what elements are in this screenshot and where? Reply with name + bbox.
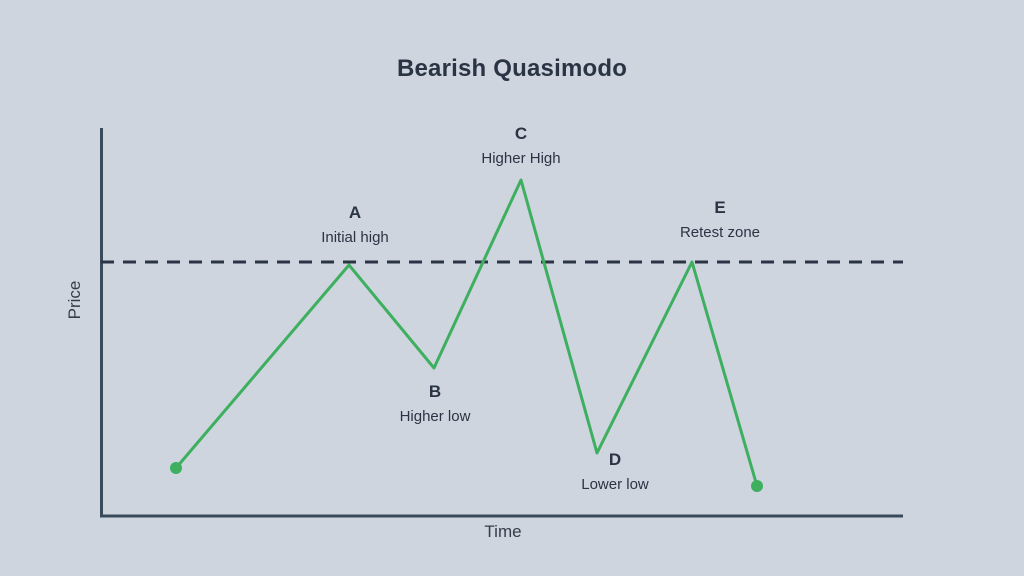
- annotation-b-description: Higher low: [345, 407, 525, 427]
- annotation-a-letter: A: [265, 203, 445, 223]
- annotation-c-description: Higher High: [431, 149, 611, 169]
- x-axis-label: Time: [423, 522, 583, 542]
- y-axis-label: Price: [65, 220, 85, 380]
- end-point-marker: [751, 480, 763, 492]
- annotation-c: C Higher High: [431, 124, 611, 169]
- annotation-b-letter: B: [345, 382, 525, 402]
- annotation-c-letter: C: [431, 124, 611, 144]
- annotation-e-letter: E: [630, 198, 810, 218]
- annotation-a-description: Initial high: [265, 228, 445, 248]
- annotation-d-description: Lower low: [525, 475, 705, 495]
- quasimodo-pattern-svg: [0, 0, 1024, 576]
- annotation-d-letter: D: [525, 450, 705, 470]
- annotation-a: A Initial high: [265, 203, 445, 248]
- annotation-e: E Retest zone: [630, 198, 810, 243]
- annotation-b: B Higher low: [345, 382, 525, 427]
- start-point-marker: [170, 462, 182, 474]
- annotation-d: D Lower low: [525, 450, 705, 495]
- annotation-e-description: Retest zone: [630, 223, 810, 243]
- chart-canvas: Bearish Quasimodo Price Time A Initial h…: [0, 0, 1024, 576]
